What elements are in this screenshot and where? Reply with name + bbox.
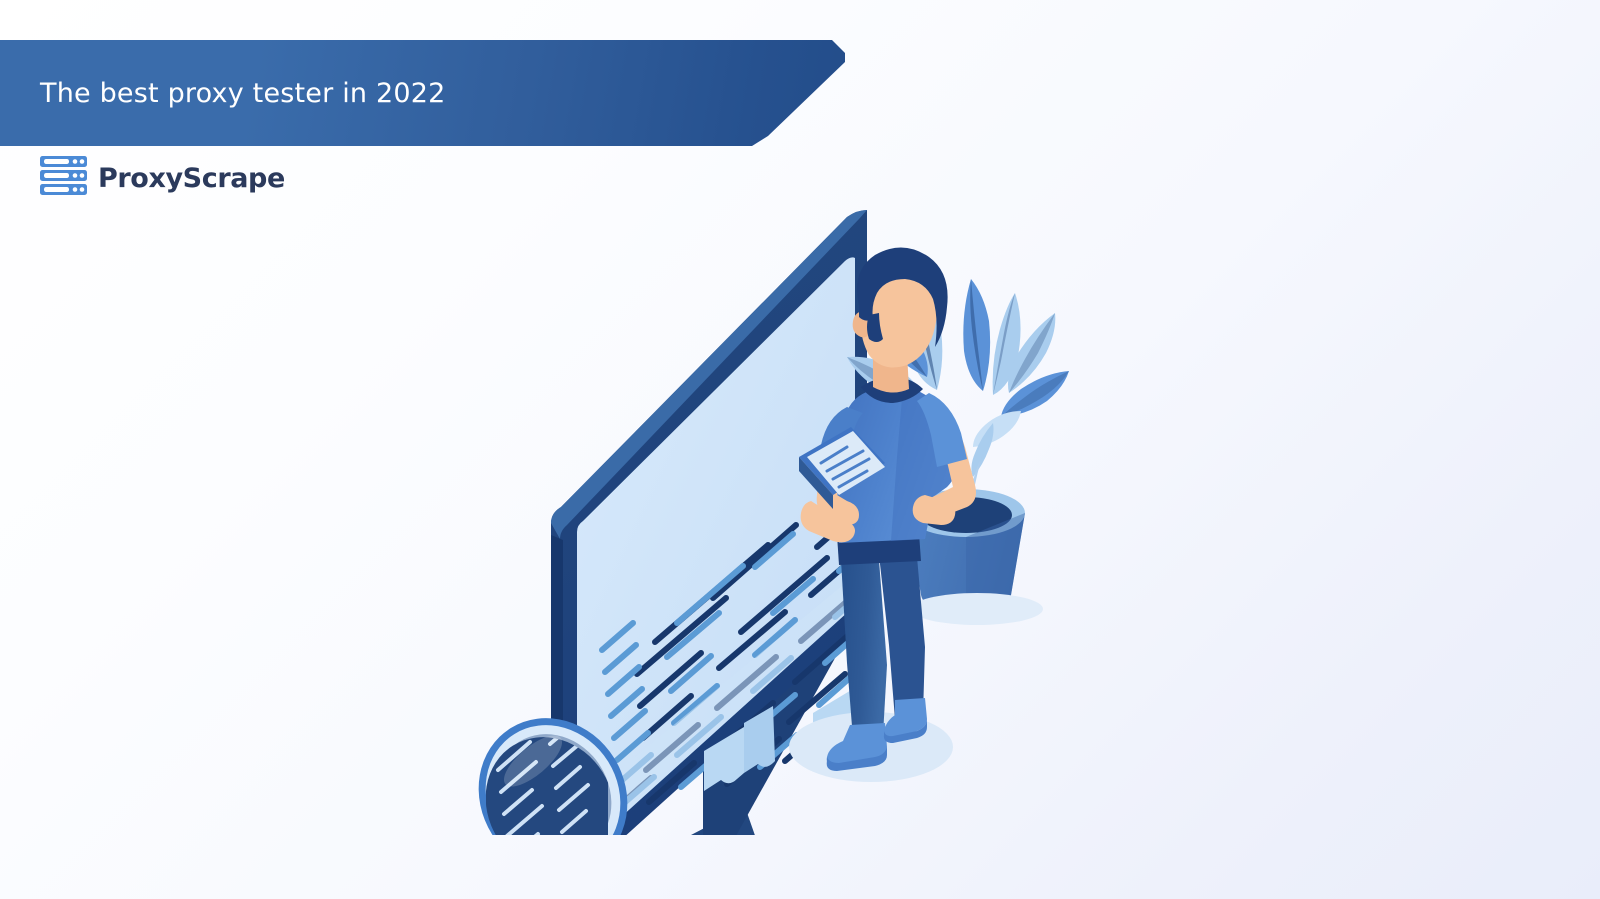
hero-banner: The best proxy tester in 2022 <box>0 40 845 146</box>
page-title: The best proxy tester in 2022 <box>0 78 446 109</box>
server-rack-icon <box>40 156 87 201</box>
page-root: The best proxy tester in 2022 <box>0 0 1600 899</box>
hero-illustration <box>455 195 1075 835</box>
plant-base-shadow <box>911 593 1043 625</box>
brand-name: ProxyScrape <box>98 163 285 194</box>
brand-logo[interactable]: ProxyScrape <box>40 156 285 201</box>
person-right-leg <box>879 555 925 719</box>
